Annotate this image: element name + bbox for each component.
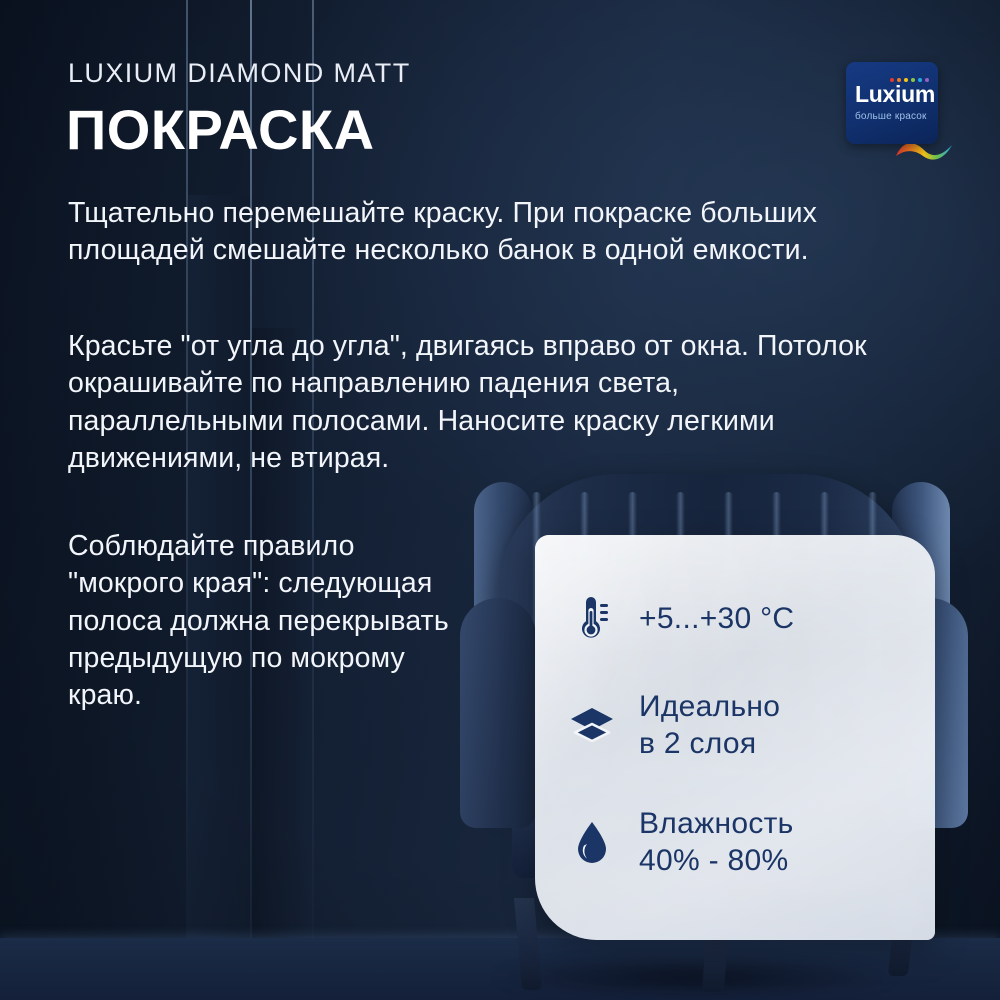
instruction-paragraph-1: Тщательно перемешайте краску. При покрас… [68,195,898,270]
water-drop-icon [569,817,615,869]
thermometer-icon [569,593,615,645]
spec-value-layers: Идеально в 2 слоя [639,689,780,762]
product-kicker: LUXIUM DIAMOND MATT [68,58,411,89]
spec-row-list: +5...+30 °C Идеально в 2 слоя [535,535,935,940]
spec-row-temperature: +5...+30 °C [569,593,935,645]
logo-wordmark: Luxium [855,83,935,106]
brand-logo[interactable]: Luxium больше красок [846,62,958,170]
spec-value-temperature: +5...+30 °C [639,601,794,638]
layers-icon [569,700,615,752]
logo-box: Luxium больше красок [846,62,938,144]
spec-row-humidity: Влажность 40% - 80% [569,806,935,879]
spec-value-humidity: Влажность 40% - 80% [639,806,794,879]
page-title: ПОКРАСКА [66,97,375,162]
logo-tagline: больше красок [855,111,927,122]
spec-row-layers: Идеально в 2 слоя [569,689,935,762]
specifications-card: +5...+30 °C Идеально в 2 слоя [535,535,935,940]
instruction-paragraph-3: Соблюдайте правило "мокрого края": следу… [68,528,468,715]
armchair-armrest [460,598,536,828]
instruction-paragraph-2: Красьте "от угла до угла", двигаясь впра… [68,328,898,477]
poster-canvas: LUXIUM DIAMOND MATT ПОКРАСКА Luxium боль… [0,0,1000,1000]
